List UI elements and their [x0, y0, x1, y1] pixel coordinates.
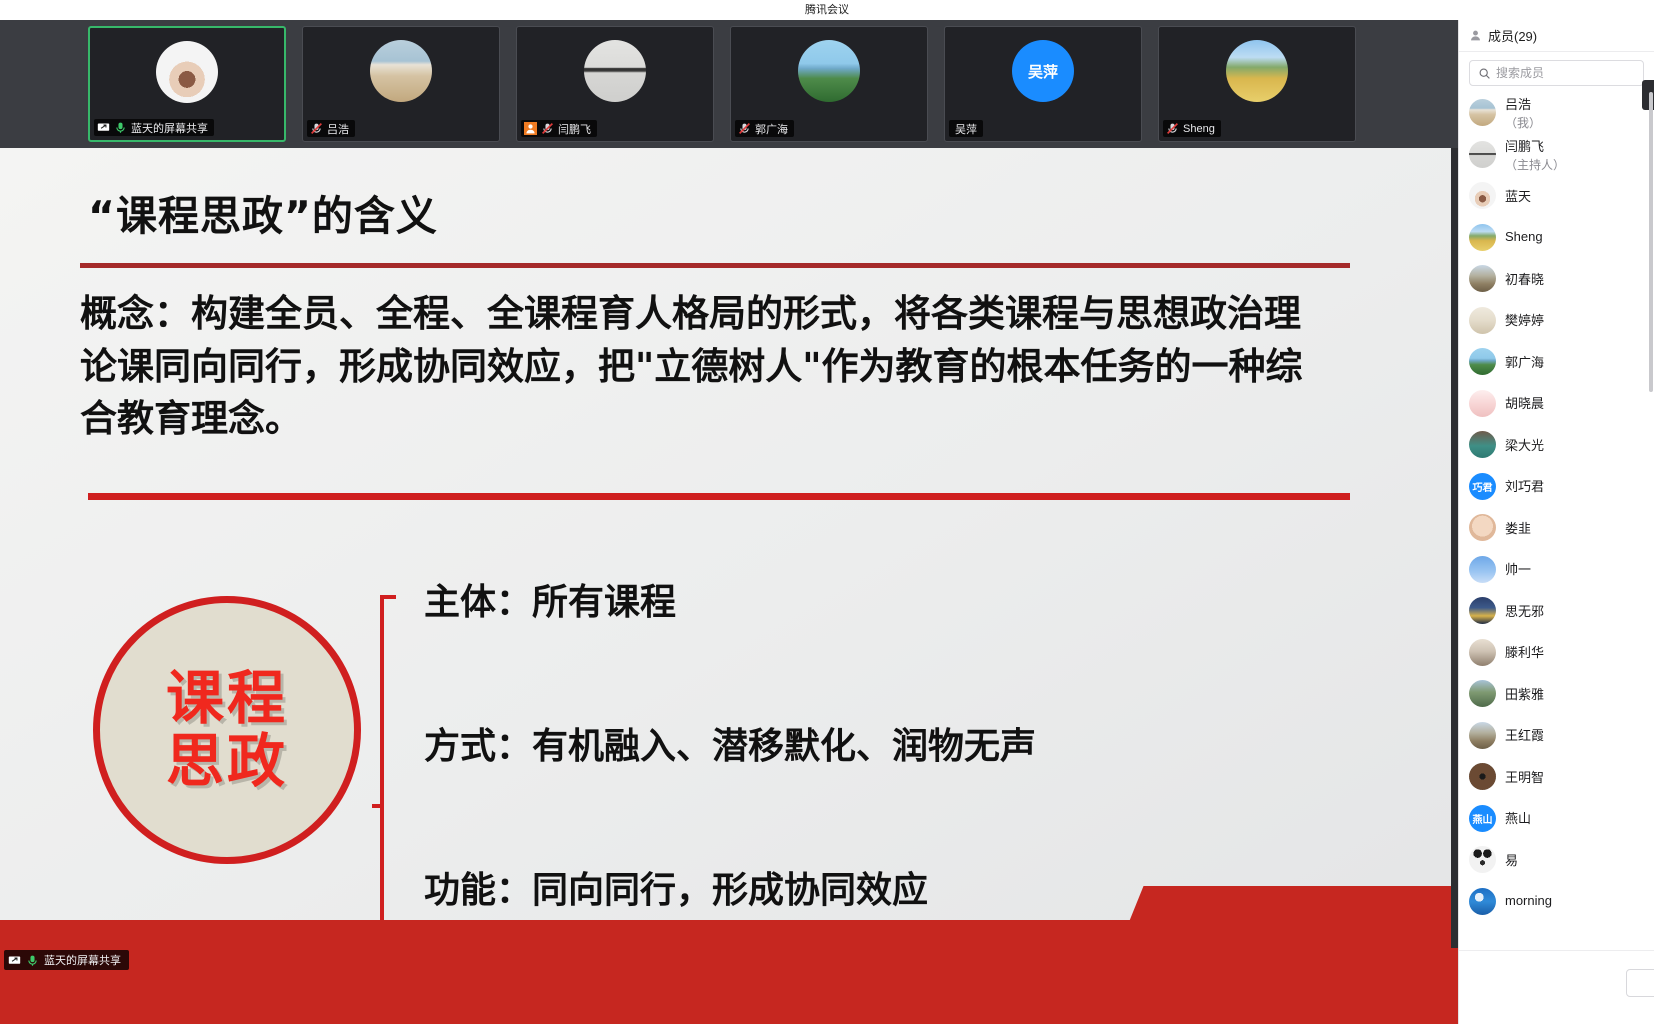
participant-avatar [1469, 431, 1496, 458]
shared-screen[interactable]: “课程思政”的含义 概念：构建全员、全程、全课程育人格局的形式，将各类课程与思想… [0, 148, 1451, 948]
slide-point: 主体：所有课程 [424, 573, 1424, 625]
mic-muted-icon [738, 122, 751, 135]
participant-row[interactable]: 王红霞 [1459, 715, 1654, 757]
participant-avatar: 燕山 [1469, 805, 1496, 832]
slide-circle-badge: 课程 思政 [93, 596, 361, 864]
participant-name: Sheng [1505, 229, 1543, 244]
participant-avatar [1469, 722, 1496, 749]
participants-header: 成员(29) [1459, 20, 1654, 52]
participant-name: 燕山 [1505, 811, 1531, 826]
avatar [584, 40, 646, 102]
circle-line-1: 课程 [166, 667, 288, 730]
slide-divider-top [80, 263, 1350, 268]
video-tile[interactable]: 闫鹏飞 [516, 26, 714, 142]
participant-name: 易 [1505, 853, 1518, 868]
slide-divider-middle [88, 493, 1350, 500]
video-tile[interactable]: Sheng [1158, 26, 1356, 142]
mic-on-icon [26, 954, 39, 967]
participants-scrollbar[interactable] [1649, 92, 1653, 392]
participant-avatar [1469, 639, 1496, 666]
participant-avatar [1469, 265, 1496, 292]
participant-avatar [1469, 680, 1496, 707]
participant-name: 帅一 [1505, 562, 1531, 577]
participant-row[interactable]: 巧君刘巧君 [1459, 466, 1654, 508]
tile-name-chip: 郭广海 [735, 120, 794, 137]
mic-muted-icon [1166, 122, 1179, 135]
video-filmstrip: 蓝天的屏幕共享吕浩闫鹏飞郭广海吴萍吴萍Sheng [0, 20, 1458, 148]
participant-row[interactable]: 燕山燕山 [1459, 798, 1654, 840]
participants-panel: 成员(29) 吕浩（我）闫鹏飞（主持人）蓝天Sheng初春晓樊婷婷郭广海胡晓晨梁… [1458, 20, 1654, 1024]
bottom-bar: 蓝天的屏幕共享 [0, 948, 1458, 1024]
participant-tag: （我） [1505, 114, 1541, 131]
participant-name: morning [1505, 893, 1552, 908]
participant-name: 蓝天 [1505, 189, 1531, 204]
screen-share-icon [97, 121, 110, 134]
participant-name: 梁大光 [1505, 438, 1544, 453]
participant-row[interactable]: 思无邪 [1459, 590, 1654, 632]
participant-name: 郭广海 [1505, 355, 1544, 370]
participant-row[interactable]: 梁大光 [1459, 424, 1654, 466]
screen-share-icon [8, 954, 21, 967]
tile-name-chip: Sheng [1163, 120, 1221, 137]
people-icon [1469, 29, 1482, 42]
participant-row[interactable]: 樊婷婷 [1459, 300, 1654, 342]
participant-avatar [1469, 763, 1496, 790]
participant-row[interactable]: 田紫雅 [1459, 673, 1654, 715]
video-tile[interactable]: 蓝天的屏幕共享 [88, 26, 286, 142]
participant-avatar [1469, 514, 1496, 541]
search-box[interactable] [1469, 60, 1644, 86]
participant-avatar [1469, 390, 1496, 417]
participant-avatar [1469, 182, 1496, 209]
avatar [1226, 40, 1288, 102]
tile-name-chip: 吴萍 [949, 120, 983, 137]
slide-body-text: 概念：构建全员、全程、全课程育人格局的形式，将各类课程与思想政治理论课同向同行，… [80, 288, 1305, 446]
participant-avatar [1469, 556, 1496, 583]
participant-avatar [1469, 141, 1496, 168]
participant-avatar [1469, 307, 1496, 334]
participant-name: 闫鹏飞 [1505, 139, 1544, 154]
participant-avatar [1469, 224, 1496, 251]
slide-points: 主体：所有课程方式：有机融入、潜移默化、润物无声功能：同向同行，形成协同效应 [424, 573, 1424, 913]
panel-footer-button[interactable] [1626, 969, 1654, 997]
participant-row[interactable]: 蓝天 [1459, 175, 1654, 217]
tile-name-label: 吕浩 [327, 121, 349, 137]
participant-avatar [1469, 888, 1496, 915]
tile-name-label: 蓝天的屏幕共享 [131, 120, 208, 136]
participant-row[interactable]: 帅一 [1459, 549, 1654, 591]
search-input[interactable] [1496, 66, 1635, 80]
mic-on-icon [114, 121, 127, 134]
avatar [156, 41, 218, 103]
video-tile[interactable]: 吴萍吴萍 [944, 26, 1142, 142]
tile-name-label: 郭广海 [755, 121, 788, 137]
participant-tag: （主持人） [1505, 156, 1565, 173]
participant-row[interactable]: 闫鹏飞（主持人） [1459, 134, 1654, 176]
participant-name: 樊婷婷 [1505, 313, 1544, 328]
participant-row[interactable]: morning [1459, 881, 1654, 923]
slide-bracket [380, 595, 396, 948]
slide-point: 方式：有机融入、潜移默化、润物无声 [424, 717, 1424, 769]
tile-name-chip: 吕浩 [307, 120, 355, 137]
participant-name: 田紫雅 [1505, 687, 1544, 702]
participant-avatar: 巧君 [1469, 473, 1496, 500]
participants-count-label: 成员(29) [1488, 26, 1537, 45]
participant-row[interactable]: 滕利华 [1459, 632, 1654, 674]
meeting-window: 腾讯会议 蓝天的屏幕共享吕浩闫鹏飞郭广海吴萍吴萍Sheng “课程思政”的含义 … [0, 0, 1654, 1024]
search-area [1459, 52, 1654, 92]
participant-name: 初春晓 [1505, 272, 1544, 287]
avatar [798, 40, 860, 102]
participant-row[interactable]: Sheng [1459, 217, 1654, 259]
mic-muted-icon [310, 122, 323, 135]
window-title: 腾讯会议 [0, 0, 1654, 20]
avatar [370, 40, 432, 102]
participant-name: 王红霞 [1505, 728, 1544, 743]
tile-name-chip: 闫鹏飞 [521, 120, 597, 137]
participant-row[interactable]: 王明智 [1459, 756, 1654, 798]
participant-name: 吕浩 [1505, 97, 1531, 112]
participant-name: 胡晓晨 [1505, 396, 1544, 411]
slide-title: “课程思政”的含义 [88, 182, 438, 242]
tile-name-chip: 蓝天的屏幕共享 [94, 119, 214, 136]
participant-avatar [1469, 348, 1496, 375]
search-icon [1478, 67, 1491, 80]
video-tile[interactable]: 吕浩 [302, 26, 500, 142]
avatar: 吴萍 [1012, 40, 1074, 102]
participant-name: 王明智 [1505, 770, 1544, 785]
participant-row[interactable]: 娄韭 [1459, 507, 1654, 549]
host-icon [524, 122, 537, 135]
share-gutter [1451, 148, 1458, 1024]
slide-footer-band [0, 920, 1451, 948]
participant-row[interactable]: 初春晓 [1459, 258, 1654, 300]
participant-row[interactable]: 胡晓晨 [1459, 383, 1654, 425]
participant-avatar [1469, 846, 1496, 873]
participant-row[interactable]: 郭广海 [1459, 341, 1654, 383]
mic-muted-icon [541, 122, 554, 135]
participant-name: 刘巧君 [1505, 479, 1544, 494]
participant-name: 思无邪 [1505, 604, 1544, 619]
participants-list[interactable]: 吕浩（我）闫鹏飞（主持人）蓝天Sheng初春晓樊婷婷郭广海胡晓晨梁大光巧君刘巧君… [1459, 92, 1654, 950]
share-status-label: 蓝天的屏幕共享 [44, 952, 121, 968]
tile-name-label: Sheng [1183, 123, 1215, 135]
share-status-chip: 蓝天的屏幕共享 [4, 950, 129, 970]
participant-name: 娄韭 [1505, 521, 1531, 536]
participant-row[interactable]: 吕浩（我） [1459, 92, 1654, 134]
video-tile[interactable]: 郭广海 [730, 26, 928, 142]
tile-name-label: 闫鹏飞 [558, 121, 591, 137]
tile-name-label: 吴萍 [955, 121, 977, 137]
participant-name: 滕利华 [1505, 645, 1544, 660]
participant-avatar [1469, 99, 1496, 126]
participant-row[interactable]: 易 [1459, 839, 1654, 881]
circle-line-2: 思政 [166, 730, 288, 793]
participant-avatar [1469, 597, 1496, 624]
participants-footer [1459, 950, 1654, 1024]
